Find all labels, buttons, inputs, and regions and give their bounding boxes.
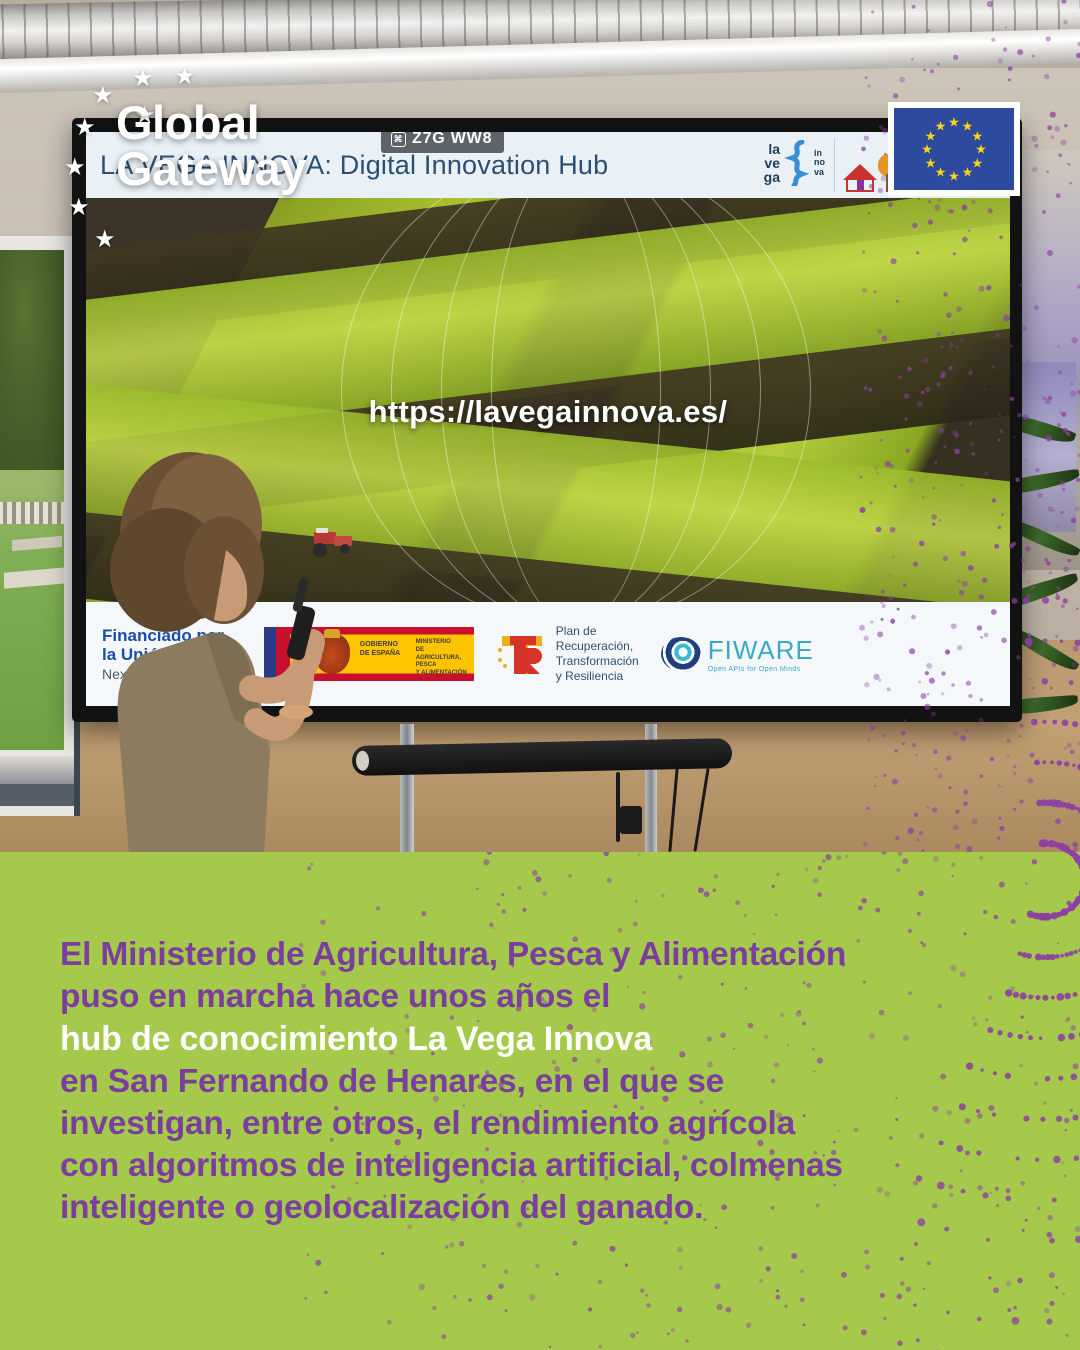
plan-line3: Transformación: [556, 654, 639, 668]
outdoor-picnic-table-far: [12, 536, 62, 551]
lavega-line3: ga: [764, 169, 780, 185]
lavega-words: la ve ga: [764, 142, 780, 185]
eu-flag-star-12: ★: [935, 119, 947, 132]
caption-text: El Ministerio de Agricultura, Pesca y Al…: [60, 934, 1010, 1229]
eu-flag-field: ★★★★★★★★★★★★: [894, 108, 1014, 190]
ministerio-line3: Y ALIMENTACIÓN: [416, 670, 467, 676]
caption-band: El Ministerio de Agricultura, Pesca y Al…: [0, 852, 1080, 1350]
house-icon: [843, 158, 874, 192]
ministerio-text: MINISTERIO DE AGRICULTURA, PESCA Y ALIME…: [416, 639, 470, 678]
plan-line1: Plan de: [556, 624, 597, 638]
caption-line-7: inteligente o geolocalización del ganado…: [60, 1187, 1010, 1229]
eu-star-8: ★: [94, 228, 116, 252]
window-pane: [0, 250, 64, 750]
caption-line-5: investigan, entre otros, el rendimiento …: [60, 1103, 1010, 1145]
fiware-tagline: Open APIs for Open Minds: [708, 666, 814, 673]
social-post-canvas: LA VEGA INNOVA: Digital Innovation Hub ⌘…: [0, 0, 1080, 1350]
badge-glyph-icon: ⌘: [391, 132, 406, 147]
eu-flag: ★★★★★★★★★★★★: [888, 102, 1020, 196]
gg-line2: Gateway: [116, 142, 306, 195]
caption-line-3: hub de conocimiento La Vega Innova: [60, 1018, 1010, 1061]
fiware-logo: FIWARE Open APIs for Open Minds: [661, 635, 814, 673]
outdoor-fence: [0, 502, 64, 524]
eu-flag-star-7: ★: [948, 170, 960, 183]
caption-line-2: puso en marcha hace unos años el: [60, 976, 1010, 1018]
outdoor-tree: [0, 250, 64, 470]
eu-star-2: ★: [132, 67, 154, 91]
eu-star-1: ★: [92, 84, 114, 108]
plan-line4: y Resiliencia: [556, 669, 623, 683]
presenter-woman: [56, 420, 376, 852]
ministerio-line2: DE AGRICULTURA, PESCA: [416, 647, 461, 669]
caption-line-6: con algoritmos de inteligencia artificia…: [60, 1145, 1010, 1187]
eu-flag-star-3: ★: [972, 129, 984, 142]
global-gateway-wordmark: Global Gateway: [116, 100, 306, 191]
caption-line-4: en San Fernando de Henares, en el que se: [60, 1061, 1010, 1103]
fiware-name: FIWARE: [708, 635, 814, 665]
eu-star-7: ★: [68, 196, 90, 220]
lavega-innova-logo: la ve ga in no va: [764, 140, 825, 186]
outdoor-picnic-table: [4, 567, 64, 588]
caption-line-1: El Ministerio de Agricultura, Pesca y Al…: [60, 934, 1010, 976]
screen-input-badge: ⌘ Z7G WW8: [381, 132, 504, 153]
badge-label: Z7G WW8: [412, 132, 492, 148]
eu-flag-star-4: ★: [975, 143, 987, 156]
tr-mark-icon: [496, 630, 548, 678]
cable-connector: [620, 806, 642, 834]
eu-star-3: ★: [174, 65, 196, 89]
eu-flag-star-10: ★: [921, 143, 933, 156]
ministerio-line1: MINISTERIO: [416, 639, 451, 645]
fiware-swirl-icon: [661, 637, 701, 671]
lv-suffix3: va: [814, 167, 824, 177]
eu-flag-star-1: ★: [948, 116, 960, 129]
plan-recuperacion-text: Plan de Recuperación, Transformación y R…: [556, 624, 639, 684]
screen-stand-post-left: [400, 724, 414, 852]
eu-flag-star-9: ★: [925, 156, 937, 169]
lavega-snake-icon: [784, 140, 810, 186]
plan-line2: Recuperación,: [556, 639, 633, 653]
global-gateway-logo: ★ ★ ★ ★ ★ ★ ★ ★ Global Gateway: [60, 62, 390, 232]
eu-star-4: ★: [74, 116, 96, 140]
fiware-wordmark: FIWARE Open APIs for Open Minds: [708, 635, 814, 673]
lavega-innova-suffix: in no va: [814, 149, 825, 177]
eu-flag-star-6: ★: [962, 166, 974, 179]
eu-star-6: ★: [64, 156, 86, 180]
plan-recuperacion-logo: Plan de Recuperación, Transformación y R…: [496, 624, 639, 684]
